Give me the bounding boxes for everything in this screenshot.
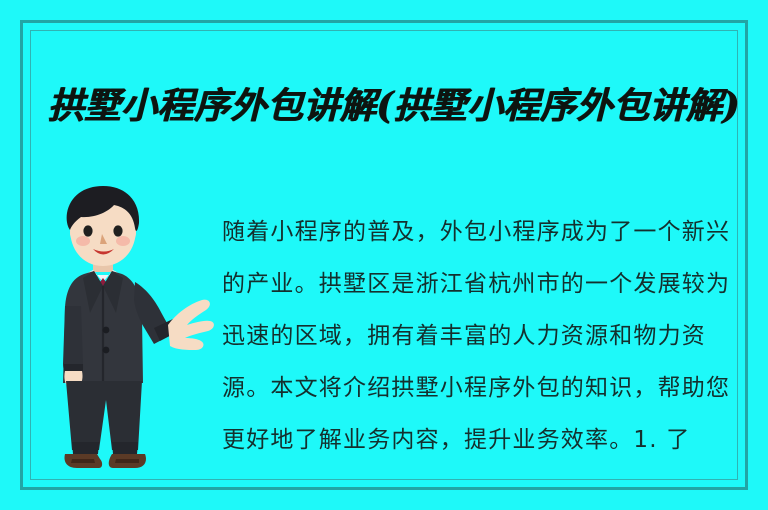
left-shoe-detail — [71, 459, 95, 463]
jacket-button-lower — [103, 347, 110, 354]
article-body-text: 随着小程序的普及，外包小程序成为了一个新兴的产业。拱墅区是浙江省杭州市的一个发展… — [222, 206, 734, 466]
right-cheek — [116, 236, 130, 246]
left-eye — [83, 225, 92, 236]
left-trouser-hem — [72, 442, 99, 454]
right-hand-open — [168, 300, 214, 350]
right-shoe-detail — [115, 459, 139, 463]
businessman-illustration — [50, 178, 220, 478]
right-eye — [113, 225, 122, 236]
left-cuff — [64, 364, 83, 371]
page-title: 拱墅小程序外包讲解(拱墅小程序外包讲解) — [48, 82, 748, 130]
trousers — [66, 381, 142, 450]
right-trouser-hem — [112, 442, 138, 454]
businessman-figure-svg — [50, 178, 220, 478]
jacket-button-upper — [103, 327, 110, 334]
poster-canvas: 拱墅小程序外包讲解(拱墅小程序外包讲解) — [0, 0, 768, 510]
left-cheek — [76, 236, 90, 246]
